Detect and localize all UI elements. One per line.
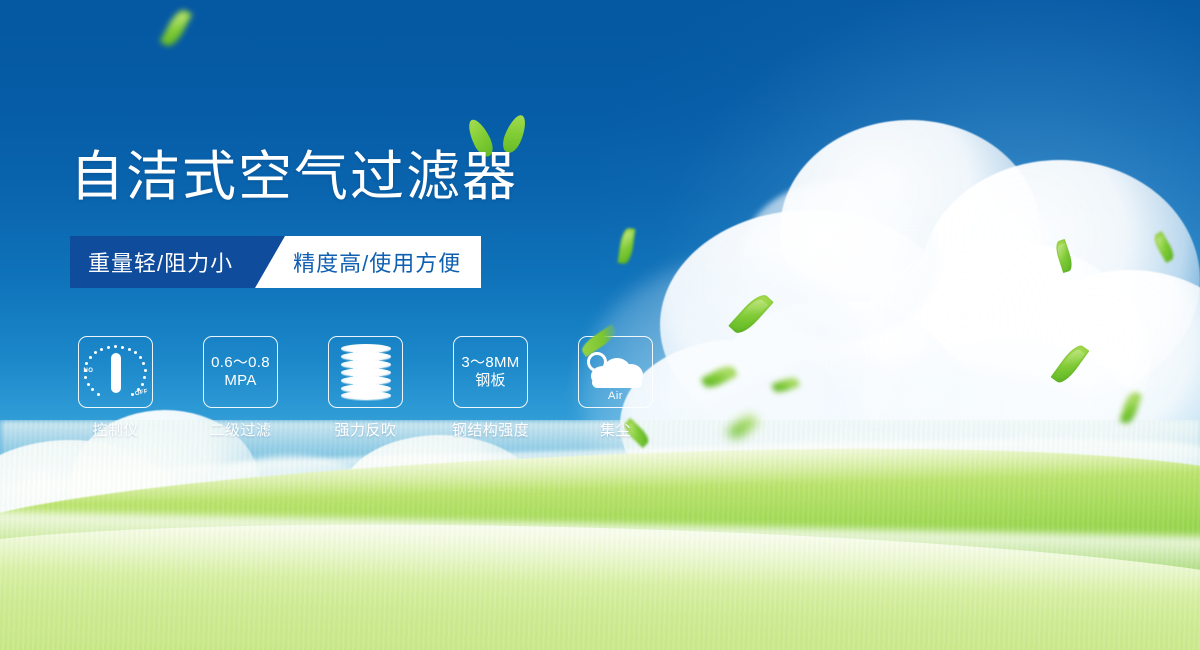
feature-list: NO OFF 控制仪 0.6～0.8 MPA 二级过滤 [78,336,653,440]
feature-item-steel[interactable]: 3～8MM 钢板 钢结构强度 [453,336,528,440]
banner-content: 自洁式空气过滤器 重量轻/阻力小 精度高/使用方便 [0,0,1200,650]
pressure-line-1: 0.6～0.8 [211,354,270,372]
feature-item-control[interactable]: NO OFF 控制仪 [78,336,153,440]
feature-item-blowback[interactable]: 强力反吹 [328,336,403,440]
subtitle-right-text: 精度高/使用方便 [285,236,481,288]
coil-filter-icon [341,344,391,400]
feature-icon-box: NO OFF [78,336,153,408]
banner-stage: 自洁式空气过滤器 重量轻/阻力小 精度高/使用方便 [0,0,1200,650]
pressure-line-2: MPA [211,372,270,390]
feature-caption: 集尘 [600,419,631,440]
steel-line-1: 3～8MM [461,354,519,372]
control-dial-icon: NO OFF [85,343,147,401]
dial-label-on: NO [84,368,94,374]
dial-label-off: OFF [135,389,149,398]
feature-item-pressure[interactable]: 0.6～0.8 MPA 二级过滤 [203,336,278,440]
subtitle-diagonal-separator [255,236,285,288]
feature-item-dust[interactable]: Air 集尘 [578,336,653,440]
feature-icon-box: 0.6～0.8 MPA [203,336,278,408]
steel-thickness-text-icon: 3～8MM 钢板 [461,354,519,390]
subtitle-left-text: 重量轻/阻力小 [70,236,255,288]
feature-caption: 强力反吹 [334,419,396,440]
feature-icon-box: Air [578,336,653,408]
banner-title: 自洁式空气过滤器 [70,146,518,208]
pressure-text-icon: 0.6～0.8 MPA [211,354,270,390]
feature-caption: 钢结构强度 [452,419,530,440]
feature-icon-box [328,336,403,408]
feature-caption: 二级过滤 [209,419,271,440]
subtitle-bar: 重量轻/阻力小 精度高/使用方便 [70,236,481,288]
steel-line-2: 钢板 [461,372,519,390]
air-label: Air [585,390,647,402]
feature-caption: 控制仪 [92,419,139,440]
cloud-air-icon: Air [585,344,647,400]
feature-icon-box: 3～8MM 钢板 [453,336,528,408]
